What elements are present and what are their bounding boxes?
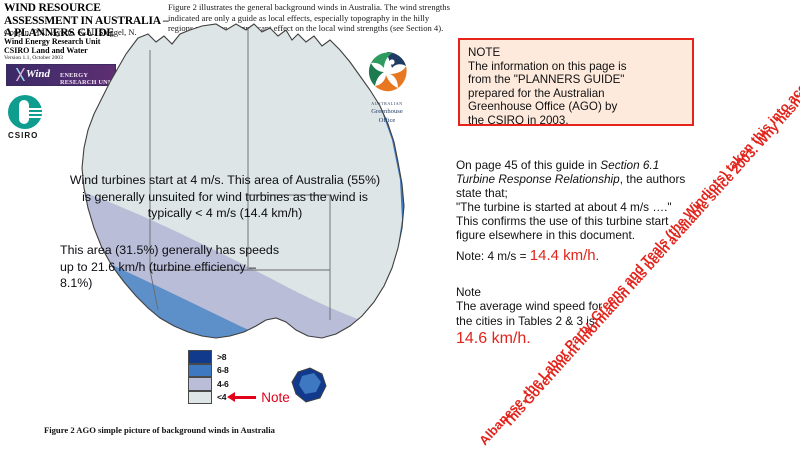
- average-speed-note: Note The average wind speed for the citi…: [456, 285, 694, 347]
- legend-row: <4 Note: [188, 391, 308, 405]
- guide-reference-paragraph: On page 45 of this guide in Section 6.1 …: [456, 158, 694, 263]
- legend-swatch-lt4: [188, 391, 212, 405]
- legend-note-callout: Note: [234, 391, 290, 404]
- guide-confirmation: This confirms the use of this turbine st…: [456, 214, 694, 242]
- note-box-line-4: Greenhouse Office (AGO) by: [468, 100, 684, 114]
- guide-ref-prefix: On page 45 of this guide in: [456, 158, 600, 172]
- map-legend: >8 6-8 4-6 <4 Note: [188, 350, 308, 410]
- map-annotation-speed-area: This area (31.5%) generally has speeds u…: [60, 242, 290, 292]
- ago-label: AUSTRALIAN Greenhouse Office: [352, 100, 422, 125]
- guide-quote: "The turbine is started at about 4 m/s ……: [456, 200, 694, 214]
- legend-label-lt4: <4: [217, 392, 226, 402]
- note-box-line-3: prepared for the Australian: [468, 87, 684, 101]
- note-box-line-1: The information on this page is: [468, 60, 684, 74]
- figure-caption: Figure 2 AGO simple picture of backgroun…: [44, 425, 344, 435]
- average-note-line-2: the cities in Tables 2 & 3 is: [456, 314, 694, 328]
- legend-swatch-gt8: [188, 350, 212, 364]
- legend-label-6-8: 6-8: [217, 365, 229, 375]
- ago-line1: Greenhouse: [371, 108, 403, 115]
- legend-label-gt8: >8: [217, 352, 226, 362]
- legend-row: 4-6: [188, 377, 308, 391]
- left-arrow-icon: [234, 396, 256, 399]
- ago-line2: Office: [379, 117, 396, 124]
- conversion-tail: .: [596, 249, 599, 263]
- average-note-line-1: The average wind speed for: [456, 299, 694, 313]
- australian-greenhouse-office-logo: AUSTRALIAN Greenhouse Office: [352, 48, 422, 122]
- conversion-value: 14.4 km/h: [530, 247, 596, 264]
- note-callout-box: NOTE The information on this page is fro…: [458, 38, 694, 126]
- note-box-heading: NOTE: [468, 46, 684, 60]
- page-root: WIND RESOURCE ASSESSMENT IN AUSTRALIA – …: [0, 0, 800, 460]
- legend-row: >8: [188, 350, 308, 364]
- map-annotation-unsuited-area: Wind turbines start at 4 m/s. This area …: [65, 172, 385, 222]
- average-note-value: 14.6 km/h.: [456, 332, 694, 346]
- ago-country-label: AUSTRALIAN: [352, 100, 422, 108]
- conversion-note: Note: 4 m/s = 14.4 km/h.: [456, 249, 694, 263]
- legend-note-label: Note: [261, 391, 290, 404]
- note-box-line-5: the CSIRO in 2003.: [468, 114, 684, 128]
- legend-swatch-6-8: [188, 364, 212, 378]
- legend-swatch-4-6: [188, 377, 212, 391]
- conversion-label: Note: 4 m/s =: [456, 249, 530, 263]
- ago-mark-icon: [363, 48, 411, 96]
- average-note-heading: Note: [456, 285, 694, 299]
- legend-row: 6-8: [188, 364, 308, 378]
- note-box-line-2: from the "PLANNERS GUIDE": [468, 73, 684, 87]
- legend-label-4-6: 4-6: [217, 379, 229, 389]
